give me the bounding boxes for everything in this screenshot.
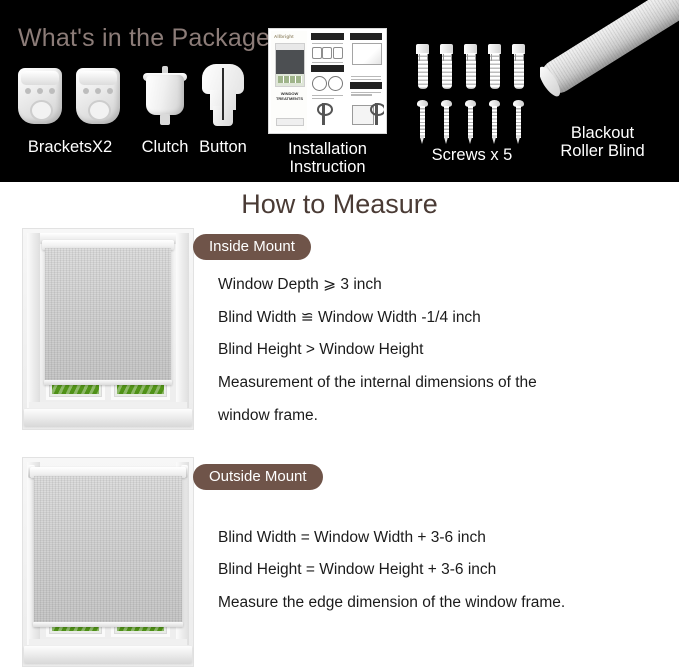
bracket-hole: [37, 88, 43, 94]
package-panel: What's in the Package BracketsX2 Clutch: [0, 0, 679, 182]
how-to-measure-title: How to Measure: [0, 189, 679, 220]
booklet-tool-icon: [312, 47, 322, 59]
booklet-tool-icon: [333, 47, 343, 59]
booklet-wrench-icon: [315, 103, 331, 125]
button-icon: [202, 64, 244, 126]
blind-bottom-bar: [33, 622, 183, 627]
inside-mount-line-1: Window Depth ⩾ 3 inch: [218, 275, 382, 294]
bracket-icon: [18, 68, 122, 124]
booklet-brand: Allbright: [274, 34, 294, 39]
bracket-left-icon: [18, 68, 62, 124]
window-sill-inner: [29, 402, 187, 409]
bracket-hole: [25, 88, 31, 94]
instruction-label: Installation Instruction: [268, 140, 387, 177]
booklet-drawing: [352, 43, 382, 65]
booklet-heading-bar: [350, 33, 382, 40]
wall-anchor-icon: [488, 44, 501, 89]
screws-label: Screws x 5: [408, 146, 536, 164]
rolled-blind-tube: [540, 0, 679, 99]
booklet-text-line: [312, 95, 342, 96]
bracket-cap: [79, 71, 117, 85]
inside-mount-line-4: Measurement of the internal dimensions o…: [218, 374, 537, 392]
bracket-hole: [83, 88, 89, 94]
booklet-badge: [276, 118, 304, 126]
bracket-cap: [21, 71, 59, 85]
bracket-label: BracketsX2: [18, 138, 122, 156]
inside-mount-badge: Inside Mount: [193, 234, 311, 260]
inside-mount-line-3: Blind Height > Window Height: [218, 341, 423, 359]
window-jamb-right: [176, 233, 189, 408]
blind-fabric: [45, 248, 171, 381]
bracket-ring: [30, 100, 53, 121]
bracket-hole: [49, 88, 55, 94]
booklet-text-line: [351, 79, 381, 80]
inside-mount-line-2: Blind Width ≌ Window Width -1/4 inch: [218, 308, 481, 327]
outside-mount-line-1: Blind Width = Window Width + 3-6 inch: [218, 529, 486, 547]
window-sill: [24, 646, 192, 663]
package-title: What's in the Package: [18, 24, 270, 53]
outside-mount-line-3: Measure the edge dimension of the window…: [218, 594, 565, 612]
booklet-heading-bar: [311, 33, 343, 40]
window-sill-inner: [29, 639, 187, 646]
screw-icon: [440, 100, 453, 144]
blind-fabric: [34, 476, 182, 623]
booklet-heading-bar: [311, 65, 343, 72]
wall-anchor-icon: [464, 44, 477, 89]
wall-anchor-icon: [512, 44, 525, 89]
outside-mount-line-2: Blind Height = Window Height + 3-6 inch: [218, 561, 496, 579]
inside-mount-image: [22, 228, 194, 430]
wall-anchor-icon: [440, 44, 453, 89]
booklet-photo: [275, 43, 305, 87]
blind-bottom-bar: [44, 380, 172, 385]
booklet-text-line: [351, 94, 373, 95]
booklet-panel-middle: [309, 31, 345, 131]
booklet-diagram-circles: [311, 76, 343, 91]
booklet-panel-back: [348, 31, 384, 131]
window-jamb-left: [27, 233, 40, 408]
outside-mount-badge: Outside Mount: [193, 464, 323, 490]
booklet-text-line: [312, 98, 334, 99]
screw-icon: [488, 100, 501, 144]
instruction-booklet-icon: Allbright WINDOW TREATMENTS: [268, 28, 387, 134]
booklet-text-line: [351, 92, 381, 93]
clutch-bottom-pin: [160, 114, 170, 125]
inside-mount-line-5: window frame.: [218, 407, 318, 425]
booklet-panel-front: Allbright WINDOW TREATMENTS: [271, 31, 307, 131]
clutch-label: Clutch: [134, 138, 196, 156]
booklet-text-line: [312, 62, 342, 63]
booklet-circle: [328, 76, 343, 91]
bracket-hole: [95, 88, 101, 94]
outside-mount-image: [22, 457, 194, 667]
booklet-circle: [312, 76, 327, 91]
wall-anchor-icon: [416, 44, 429, 89]
booklet-tool-icon: [322, 47, 332, 59]
booklet-wrench-icon: [368, 103, 384, 125]
booklet-caption: WINDOW TREATMENTS: [274, 91, 305, 102]
button-label: Button: [192, 138, 254, 156]
booklet-heading-bar: [350, 82, 382, 89]
bracket-ring: [88, 100, 111, 121]
screw-icon: [512, 100, 525, 144]
rolled-blind-label: Blackout Roller Blind: [530, 124, 675, 161]
booklet-text-line: [312, 43, 342, 44]
screws-icon: [416, 44, 526, 144]
booklet-tool-icons: [311, 47, 343, 59]
window-sill: [24, 409, 192, 426]
clutch-drum: [146, 75, 184, 115]
clutch-icon: [142, 66, 188, 126]
bracket-hole: [107, 88, 113, 94]
button-slit: [222, 68, 224, 120]
rolled-blind-icon: [540, 0, 679, 114]
booklet-text-line: [351, 76, 381, 77]
bracket-right-icon: [76, 68, 120, 124]
screw-icon: [464, 100, 477, 144]
screw-icon: [416, 100, 429, 144]
